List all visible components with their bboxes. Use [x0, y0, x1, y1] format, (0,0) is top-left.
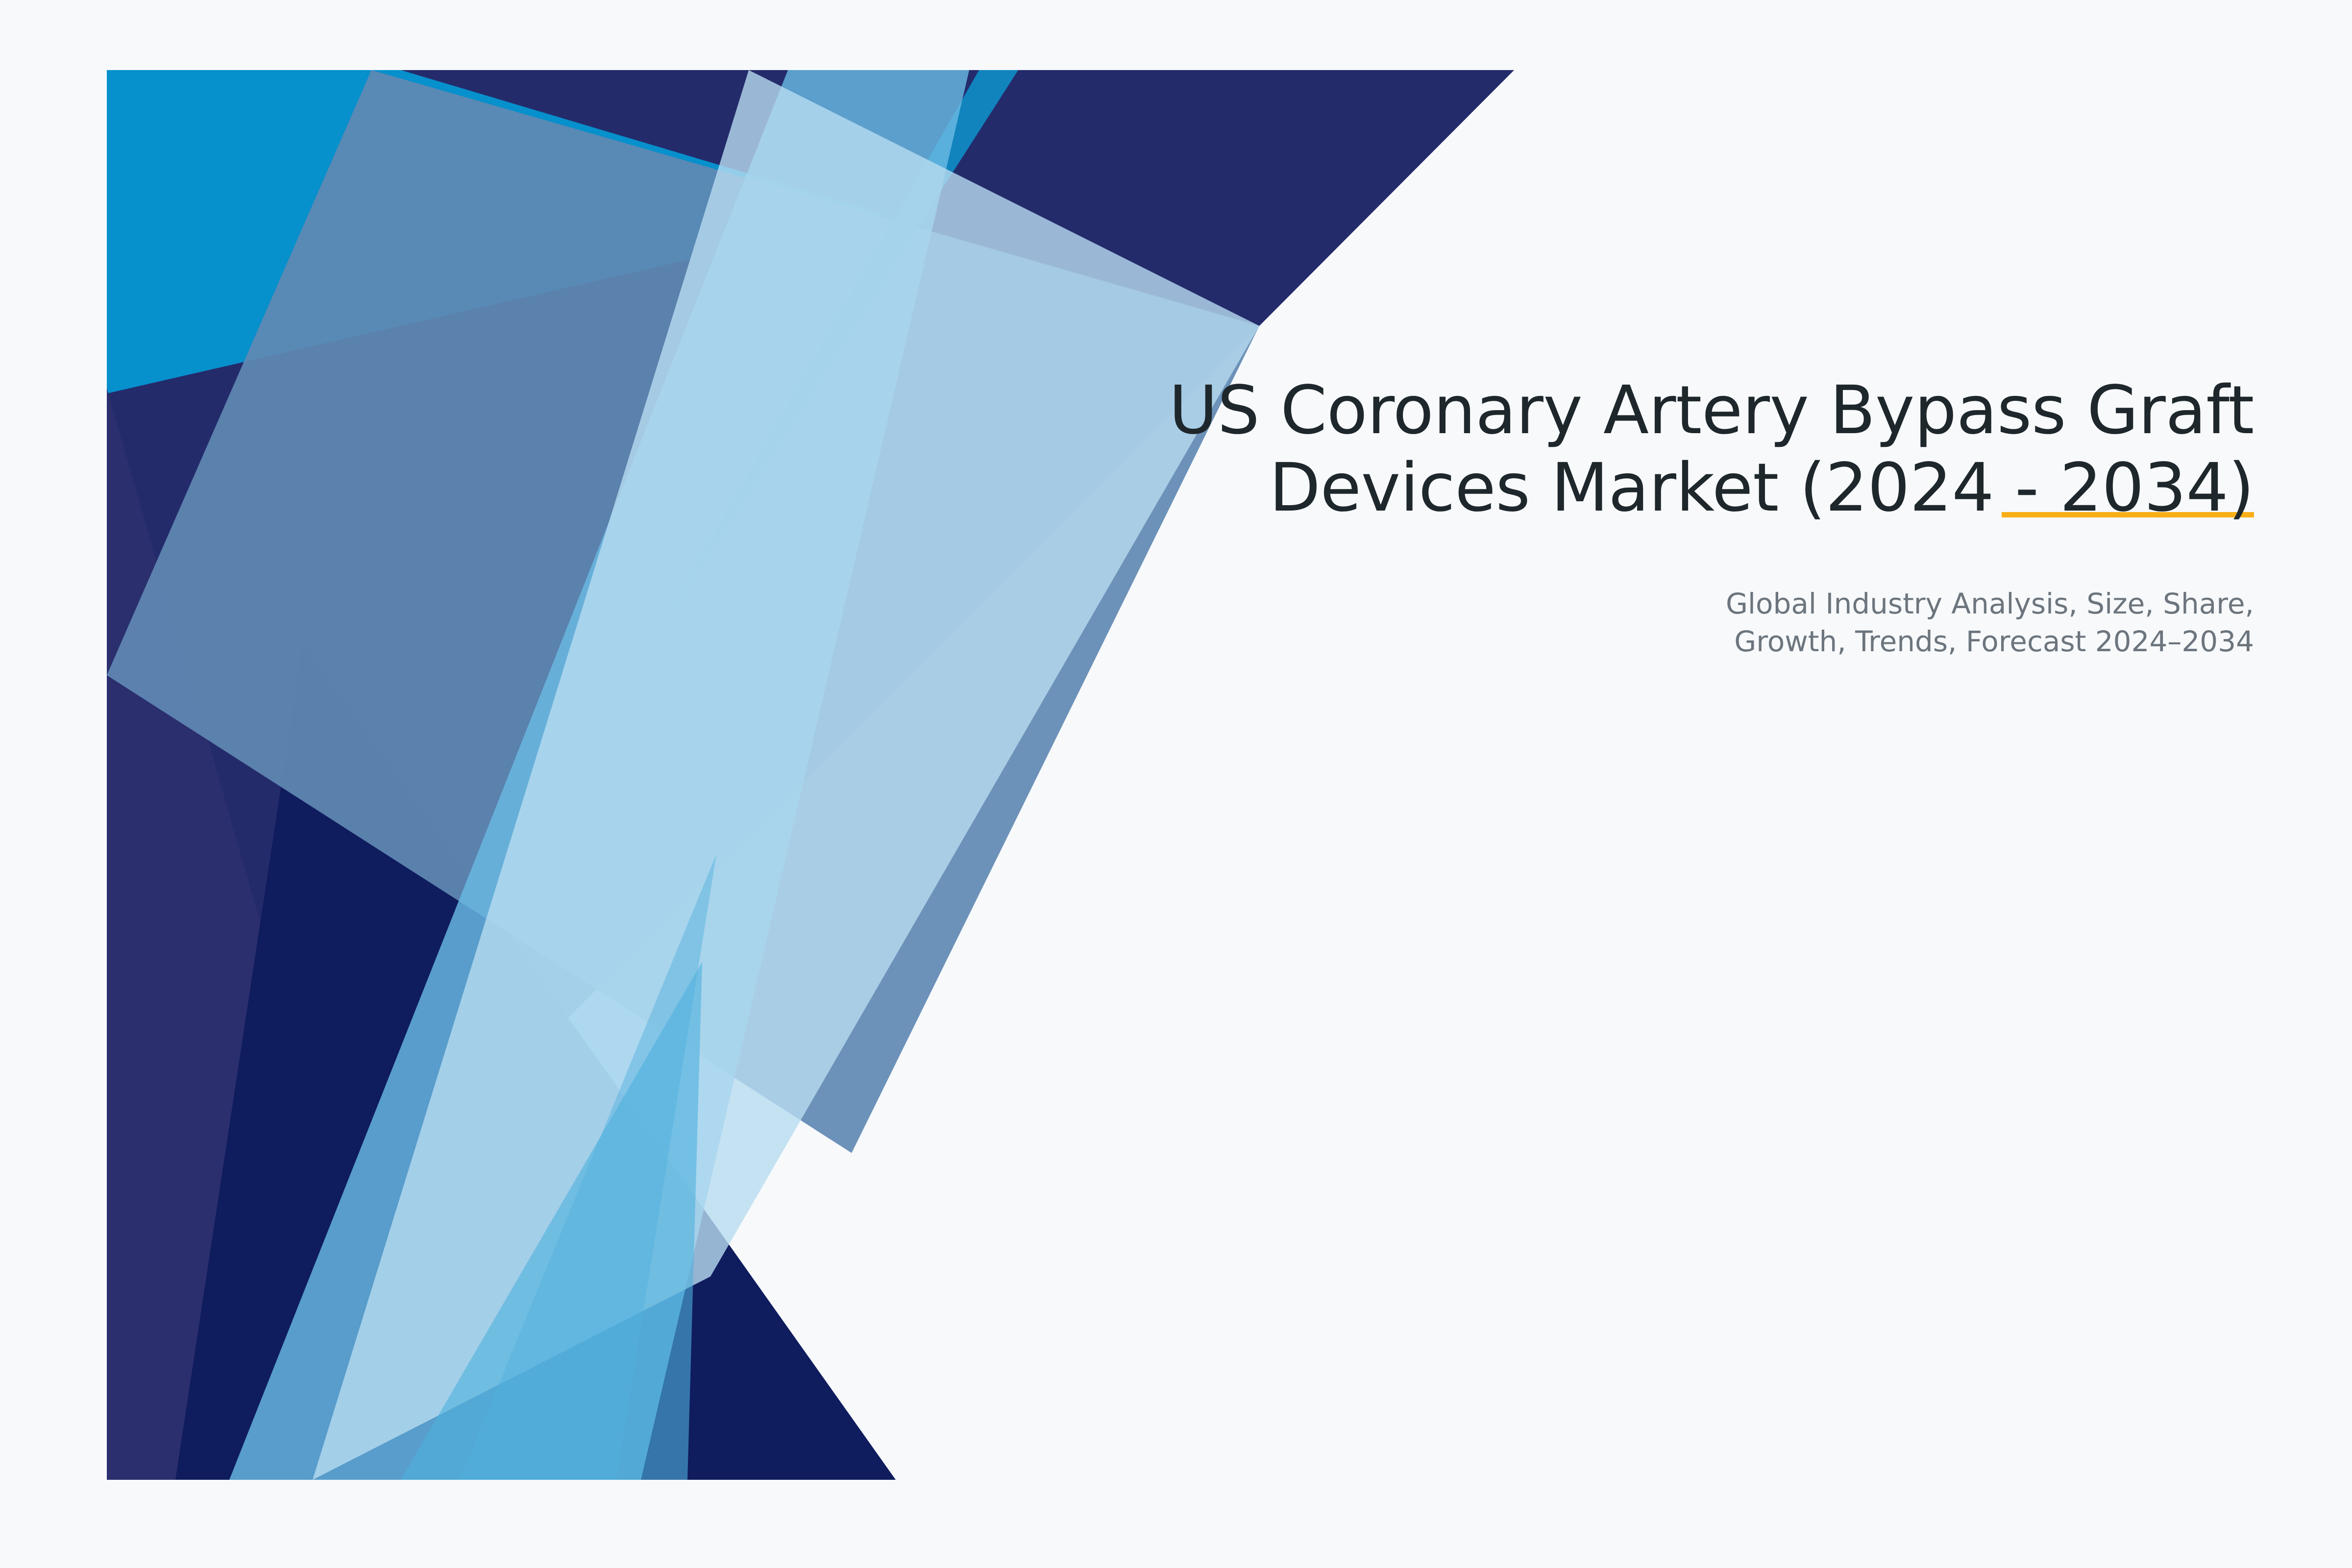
geometric-artwork-svg [107, 70, 1518, 1480]
page-subtitle-line-1: Global Industry Analysis, Size, Share, [1726, 587, 2254, 620]
cover-artwork [107, 70, 1518, 1480]
cover-title-wrap: US Coronary Artery Bypass GraftDevices M… [931, 372, 2254, 527]
page-title: US Coronary Artery Bypass GraftDevices M… [931, 372, 2254, 527]
cover-page: US Coronary Artery Bypass GraftDevices M… [0, 0, 2352, 1568]
cover-text-block: US Coronary Artery Bypass GraftDevices M… [931, 372, 2254, 661]
page-title-line-1: US Coronary Artery Bypass Graft [1169, 372, 2254, 449]
page-title-line-2: Devices Market (2024 - 2034) [1269, 449, 2254, 527]
page-subtitle-line-2: Growth, Trends, Forecast 2024–2034 [1734, 625, 2254, 658]
page-subtitle: Global Industry Analysis, Size, Share,Gr… [931, 585, 2254, 661]
